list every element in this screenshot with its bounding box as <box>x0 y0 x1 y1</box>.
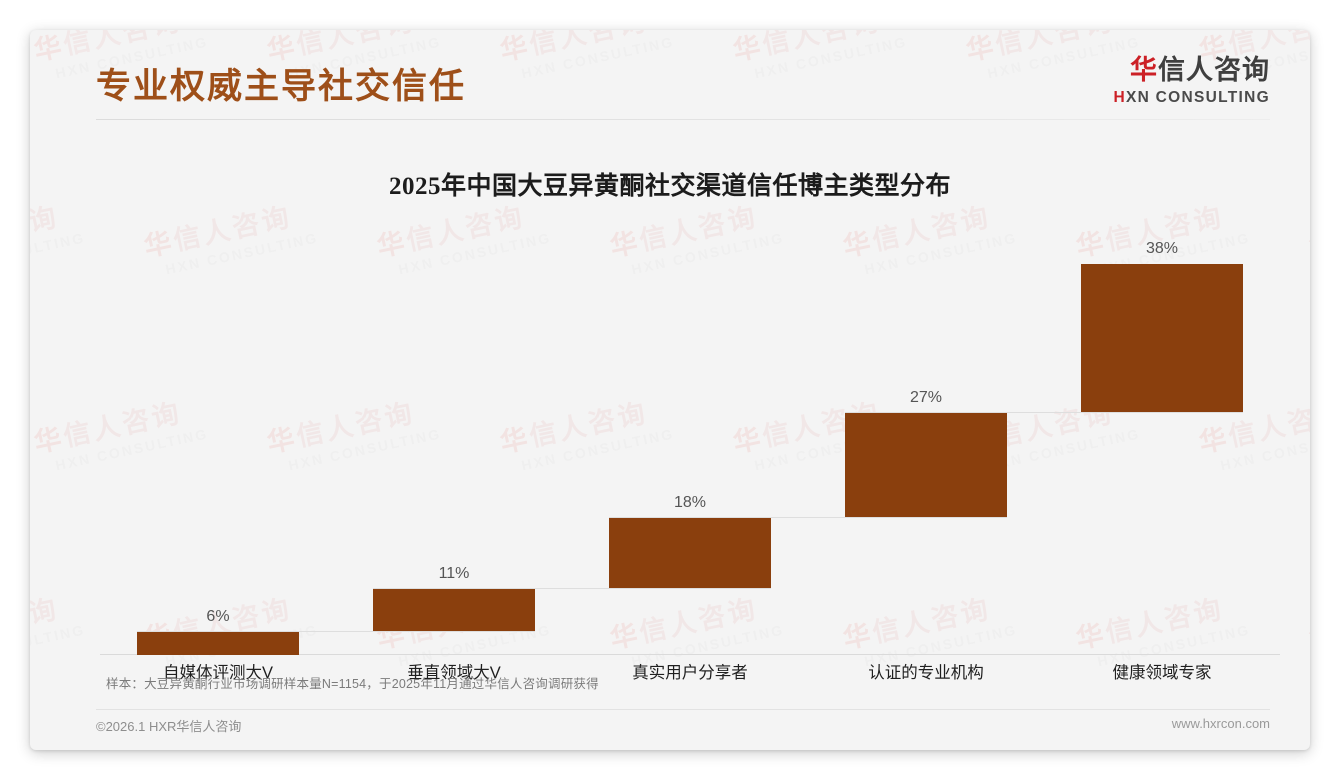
slide-footer: ©2026.1 HXR华信人咨询 www.hxrcon.com <box>96 716 1270 738</box>
slide-card: 华信人咨询HXN CONSULTING华信人咨询HXN CONSULTING华信… <box>30 30 1310 750</box>
bar-value-label: 11% <box>373 565 536 583</box>
logo-english-rest: XN CONSULTING <box>1126 89 1270 106</box>
logo-english-red: H <box>1113 89 1126 106</box>
bar-value-label: 18% <box>609 494 772 512</box>
waterfall-connector <box>845 412 1244 413</box>
waterfall-connector <box>609 517 1008 518</box>
header-divider <box>96 119 1270 120</box>
chart-title: 2025年中国大豆异黄酮社交渠道信任博主类型分布 <box>30 166 1310 202</box>
bar-segment[interactable] <box>845 413 1008 519</box>
waterfall-connector <box>137 631 536 632</box>
bar-value-label: 27% <box>845 389 1008 407</box>
bar-segment[interactable] <box>1081 264 1244 413</box>
copyright-text: ©2026.1 HXR华信人咨询 <box>96 716 241 735</box>
company-logo: 华信人咨询 HXN CONSULTING <box>1113 57 1270 106</box>
chart-area: 2025年中国大豆异黄酮社交渠道信任博主类型分布 6%自媒体评测大V11%垂直领… <box>30 120 1310 670</box>
slide-header: 专业权威主导社交信任 华信人咨询 HXN CONSULTING <box>30 30 1310 120</box>
logo-chinese-red: 华 <box>1130 55 1158 85</box>
category-label: 真实用户分享者 <box>572 659 808 683</box>
website-text: www.hxrcon.com <box>1172 716 1270 731</box>
bar-value-label: 6% <box>137 608 300 626</box>
logo-chinese-rest: 信人咨询 <box>1158 55 1270 85</box>
waterfall-plot: 6%自媒体评测大V11%垂直领域大V18%真实用户分享者27%认证的专业机构38… <box>100 225 1280 655</box>
source-note: 样本：大豆异黄酮行业市场调研样本量N=1154，于2025年11月通过华信人咨询… <box>106 673 599 692</box>
bar-segment[interactable] <box>373 589 536 632</box>
footer-divider <box>96 709 1270 710</box>
waterfall-connector <box>373 588 772 589</box>
logo-chinese: 华信人咨询 <box>1113 57 1270 84</box>
page-title: 专业权威主导社交信任 <box>96 58 466 109</box>
bar-segment[interactable] <box>609 518 772 588</box>
category-label: 认证的专业机构 <box>808 659 1044 683</box>
bar-segment[interactable] <box>137 632 300 655</box>
bar-value-label: 38% <box>1081 240 1244 258</box>
category-label: 健康领域专家 <box>1044 659 1280 683</box>
logo-english: HXN CONSULTING <box>1113 90 1270 106</box>
